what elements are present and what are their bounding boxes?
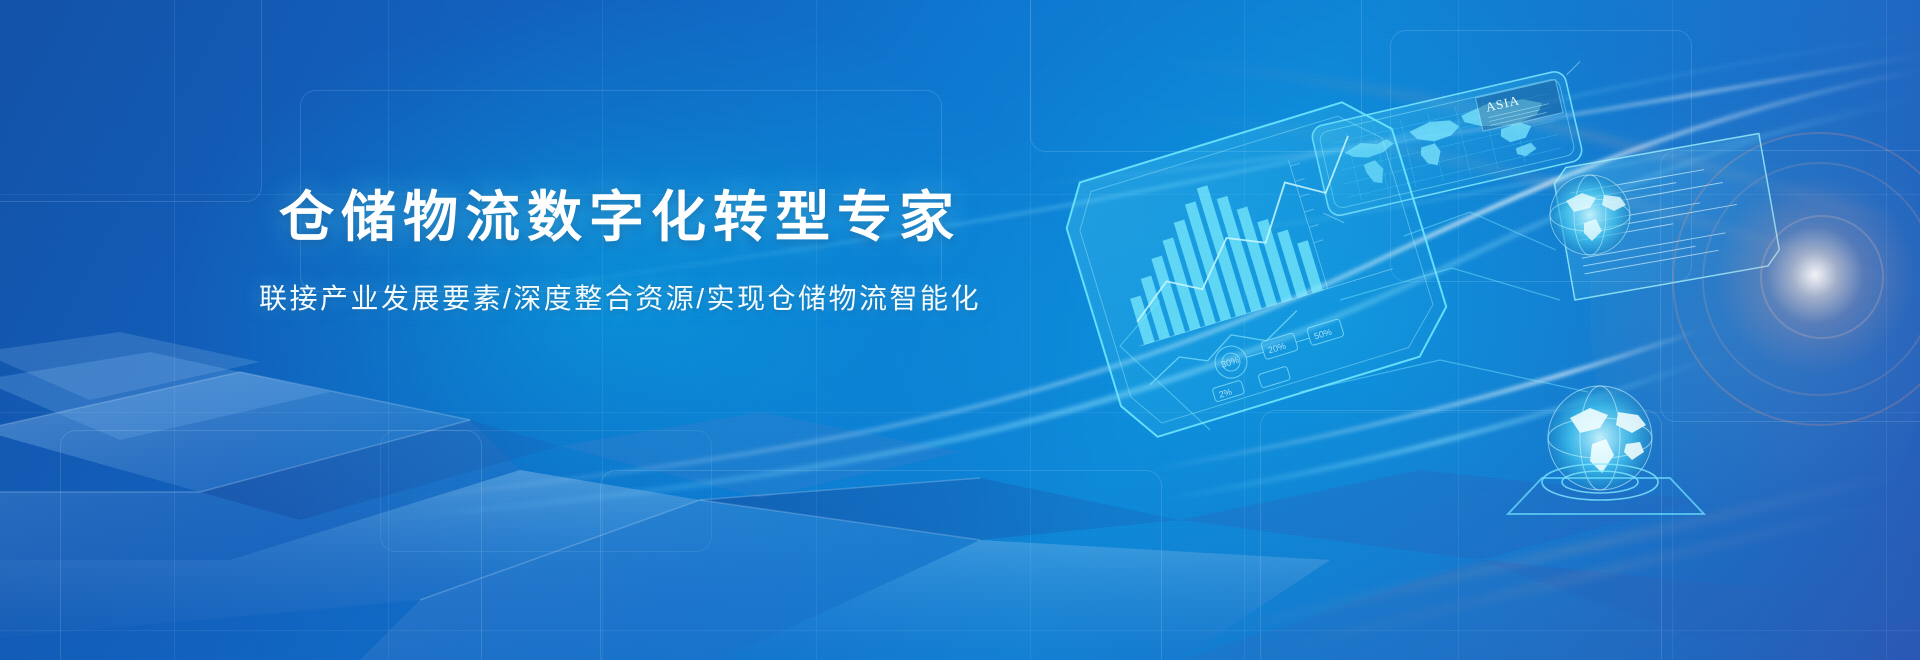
page-subtitle: 联接产业发展要素/深度整合资源/实现仓储物流智能化: [0, 277, 1240, 317]
plate-edges: [0, 372, 980, 600]
plate-group-left: [0, 332, 700, 640]
world-map-icon: [1341, 91, 1553, 195]
hero-copy: 仓储物流数字化转型专家 联接产业发展要素/深度整合资源/实现仓储物流智能化: [0, 186, 1240, 317]
page-title: 仓储物流数字化转型专家: [0, 186, 1240, 249]
svg-text:20%: 20%: [1267, 341, 1287, 356]
secondary-line-graph: [1142, 311, 1305, 385]
asia-label: ASIA: [1475, 80, 1563, 132]
svg-text:50%: 50%: [1313, 327, 1333, 342]
svg-text:2%: 2%: [1218, 386, 1233, 399]
svg-text:30%: 30%: [1220, 355, 1240, 370]
svg-text:ASIA: ASIA: [1484, 92, 1521, 114]
hero-banner: ASIA: [0, 0, 1920, 660]
map-panel: ASIA: [1303, 62, 1603, 227]
gauge-row: [1201, 313, 1351, 402]
plate-group-center: [360, 412, 1330, 660]
